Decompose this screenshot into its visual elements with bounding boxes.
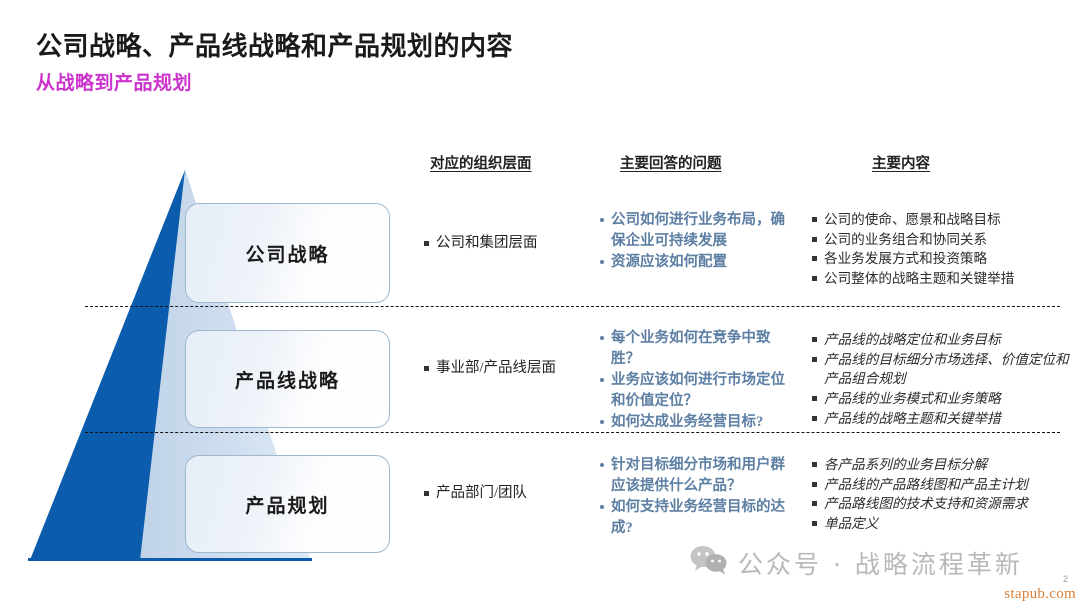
content-text: 各业务发展方式和投资策略 <box>824 249 987 269</box>
list-item: 针对目标细分市场和用户群应该提供什么产品？ <box>600 455 790 496</box>
square-bullet-icon <box>812 462 817 467</box>
level-box-product-planning[interactable]: 产品规划 <box>185 455 390 553</box>
list-item: 各产品系列的业务目标分解 <box>812 455 1074 475</box>
content-text: 产品线的战略主题和关键举措 <box>824 409 1001 429</box>
round-bullet-icon <box>600 505 604 509</box>
round-bullet-icon <box>600 218 604 222</box>
content-text: 公司的使命、愿景和战略目标 <box>824 210 1001 230</box>
list-item: 产品线的战略主题和关键举措 <box>812 409 1074 429</box>
content-text: 产品线的目标细分市场选择、价值定位和产品组合规划 <box>824 350 1074 389</box>
org-text: 产品部门/团队 <box>436 483 527 504</box>
org-cell-row-3: 产品部门/团队 <box>424 483 599 504</box>
question-text: 每个业务如何在竞争中致胜？ <box>611 328 790 369</box>
square-bullet-icon <box>812 482 817 487</box>
question-text: 如何支持业务经营目标的达成? <box>611 497 790 538</box>
site-watermark: stapub.com <box>1004 586 1076 603</box>
question-text: 如何达成业务经营目标? <box>611 412 763 433</box>
round-bullet-icon <box>600 336 604 340</box>
list-item: 产品线的战略定位和业务目标 <box>812 330 1074 350</box>
column-header-questions: 主要回答的问题 <box>620 152 722 173</box>
square-bullet-icon <box>812 276 817 281</box>
list-item: 业务应该如何进行市场定位和价值定位？ <box>600 370 790 411</box>
list-item: 资源应该如何配置 <box>600 252 790 273</box>
question-text: 资源应该如何配置 <box>611 252 727 273</box>
list-item: 产品路线图的技术支持和资源需求 <box>812 494 1074 514</box>
list-item: 单品定义 <box>812 514 1074 534</box>
square-bullet-icon <box>812 396 817 401</box>
questions-cell-row-1: 公司如何进行业务布局，确保企业可持续发展 资源应该如何配置 <box>600 210 790 274</box>
org-cell-row-1: 公司和集团层面 <box>424 233 599 254</box>
round-bullet-icon <box>600 420 604 424</box>
list-item: 公司和集团层面 <box>424 233 599 254</box>
org-text: 事业部/产品线层面 <box>436 358 556 379</box>
list-item: 每个业务如何在竞争中致胜？ <box>600 328 790 369</box>
level-label: 产品规划 <box>245 491 329 518</box>
list-item: 如何达成业务经营目标? <box>600 412 790 433</box>
column-header-content: 主要内容 <box>872 152 930 173</box>
org-text: 公司和集团层面 <box>436 233 538 254</box>
level-label: 产品线战略 <box>235 366 340 393</box>
round-bullet-icon <box>600 378 604 382</box>
content-text: 单品定义 <box>824 514 878 534</box>
level-box-product-line-strategy[interactable]: 产品线战略 <box>185 330 390 428</box>
page-number: 2 <box>1063 574 1068 584</box>
content-text: 产品路线图的技术支持和资源需求 <box>824 494 1028 514</box>
list-item: 事业部/产品线层面 <box>424 358 599 379</box>
square-bullet-icon <box>812 237 817 242</box>
list-item: 产品线的产品路线图和产品主计划 <box>812 475 1074 495</box>
square-bullet-icon <box>424 366 429 371</box>
question-text: 公司如何进行业务布局，确保企业可持续发展 <box>611 210 790 251</box>
content-text: 产品线的业务模式和业务策略 <box>824 389 1001 409</box>
list-item: 各业务发展方式和投资策略 <box>812 249 1074 269</box>
round-bullet-icon <box>600 260 604 264</box>
divider-line-1 <box>85 306 1060 307</box>
list-item: 如何支持业务经营目标的达成? <box>600 497 790 538</box>
list-item: 公司整体的战略主题和关键举措 <box>812 269 1074 289</box>
square-bullet-icon <box>812 357 817 362</box>
content-text: 产品线的产品路线图和产品主计划 <box>824 475 1028 495</box>
square-bullet-icon <box>812 337 817 342</box>
list-item: 产品线的目标细分市场选择、价值定位和产品组合规划 <box>812 350 1074 389</box>
square-bullet-icon <box>812 501 817 506</box>
questions-cell-row-3: 针对目标细分市场和用户群应该提供什么产品？ 如何支持业务经营目标的达成? <box>600 455 790 539</box>
divider-line-2 <box>85 432 1060 433</box>
questions-cell-row-2: 每个业务如何在竞争中致胜？ 业务应该如何进行市场定位和价值定位？ 如何达成业务经… <box>600 328 790 434</box>
content-text: 产品线的战略定位和业务目标 <box>824 330 1001 350</box>
slide-canvas: 公司战略、产品线战略和产品规划的内容 从战略到产品规划 对应的组织层面 主要回答… <box>0 0 1080 608</box>
content-cell-row-2: 产品线的战略定位和业务目标 产品线的目标细分市场选择、价值定位和产品组合规划 产… <box>812 330 1074 429</box>
level-label: 公司战略 <box>245 240 329 267</box>
square-bullet-icon <box>812 256 817 261</box>
watermark-text: 公众号 · 战略流程革新 <box>738 545 1023 581</box>
square-bullet-icon <box>812 416 817 421</box>
list-item: 产品部门/团队 <box>424 483 599 504</box>
list-item: 公司的业务组合和协同关系 <box>812 230 1074 250</box>
pyramid-base-line <box>28 558 312 561</box>
content-text: 各产品系列的业务目标分解 <box>824 455 987 475</box>
square-bullet-icon <box>424 241 429 246</box>
org-cell-row-2: 事业部/产品线层面 <box>424 358 599 379</box>
content-cell-row-1: 公司的使命、愿景和战略目标 公司的业务组合和协同关系 各业务发展方式和投资策略 … <box>812 210 1074 289</box>
content-text: 公司的业务组合和协同关系 <box>824 230 987 250</box>
wechat-icon <box>690 545 728 581</box>
page-title: 公司战略、产品线战略和产品规划的内容 <box>36 26 513 63</box>
content-cell-row-3: 各产品系列的业务目标分解 产品线的产品路线图和产品主计划 产品路线图的技术支持和… <box>812 455 1074 534</box>
round-bullet-icon <box>600 463 604 467</box>
list-item: 公司的使命、愿景和战略目标 <box>812 210 1074 230</box>
square-bullet-icon <box>812 521 817 526</box>
level-box-corporate-strategy[interactable]: 公司战略 <box>185 203 390 303</box>
list-item: 公司如何进行业务布局，确保企业可持续发展 <box>600 210 790 251</box>
column-header-org: 对应的组织层面 <box>430 152 532 173</box>
content-text: 公司整体的战略主题和关键举措 <box>824 269 1014 289</box>
page-subtitle: 从战略到产品规划 <box>36 68 192 95</box>
question-text: 业务应该如何进行市场定位和价值定位？ <box>611 370 790 411</box>
question-text: 针对目标细分市场和用户群应该提供什么产品？ <box>611 455 790 496</box>
list-item: 产品线的业务模式和业务策略 <box>812 389 1074 409</box>
square-bullet-icon <box>424 491 429 496</box>
square-bullet-icon <box>812 217 817 222</box>
watermark: 公众号 · 战略流程革新 <box>690 545 1023 581</box>
